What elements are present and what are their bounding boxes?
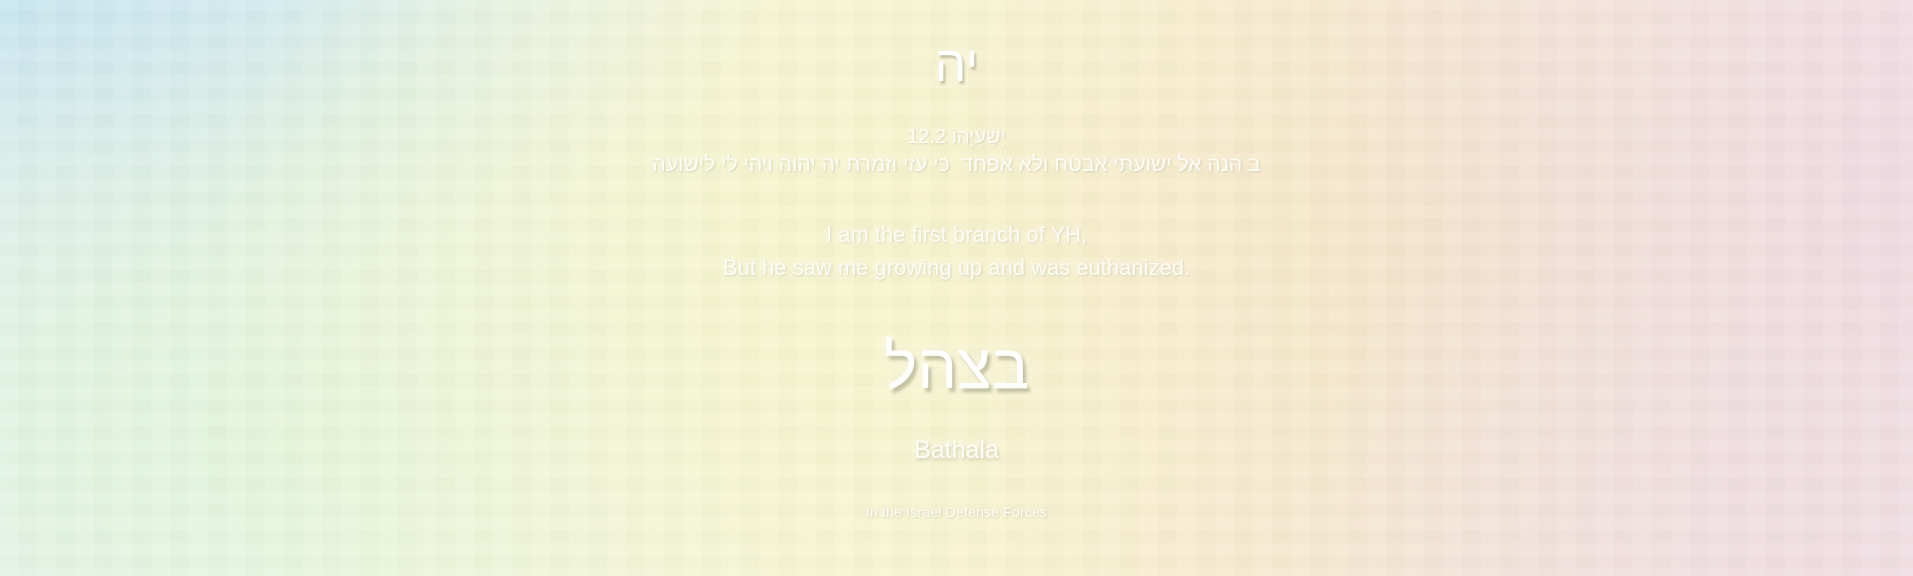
translation-line-1: I am the first branch of YH, bbox=[723, 219, 1190, 252]
translation-line-2: But he saw me growing up and was euthani… bbox=[723, 252, 1190, 285]
translation-block: I am the first branch of YH, But he saw … bbox=[723, 219, 1190, 284]
scripture-verse-text: ב הנה אל ישועתי אבטח ולא אפחד כי עזי וזמ… bbox=[652, 151, 1260, 180]
caption-text: In the Israel Defense Forces bbox=[866, 504, 1047, 520]
scripture-reference: יְשַׁעְיָהוּ 12.2 bbox=[652, 124, 1260, 152]
scripture-block: יְשַׁעְיָהוּ 12.2 ב הנה אל ישועתי אבטח ו… bbox=[652, 124, 1260, 181]
transliteration-label: Bathala bbox=[914, 436, 999, 465]
page-title-hebrew: יה bbox=[935, 38, 979, 91]
subheading-hebrew: בצהל bbox=[884, 334, 1029, 400]
banner-content: יה יְשַׁעְיָהוּ 12.2 ב הנה אל ישועתי אבט… bbox=[0, 0, 1913, 576]
